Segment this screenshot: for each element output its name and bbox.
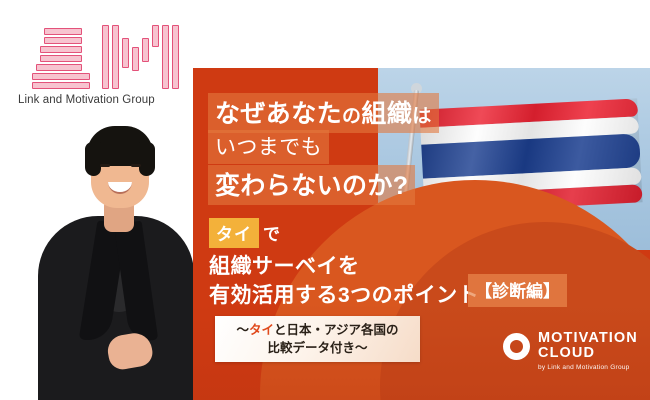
country-tag: タイ	[209, 218, 259, 248]
headline-l1-part-c: 組織	[361, 100, 412, 128]
headline-line-3: 変わらないのか?	[208, 165, 415, 205]
headline-l3-text: 変わらないのか?	[208, 165, 415, 205]
panel-content: なぜあなたの組織は いつまでも 変わらないのか? タイで 組織サーベイを 有効活…	[193, 68, 650, 400]
comparison-data-note: ～タイと日本・アジア各国の 比較データ付き～	[215, 316, 420, 362]
lm-group-logo: Link and Motivation Group	[18, 18, 183, 113]
cream-note-line-1: ～タイと日本・アジア各国の	[236, 321, 398, 339]
headline-l1-part-a: なぜあなた	[215, 100, 342, 128]
cream-note-line-2: 比較データ付き～	[267, 339, 367, 357]
motivation-cloud-wordmark: MOTIVATION CLOUD by Link and Motivation …	[538, 331, 638, 371]
subhead-country-line: タイで	[209, 218, 280, 248]
headline-line-1: なぜあなたの組織は	[208, 93, 439, 133]
eye-left	[100, 164, 110, 167]
lm-logo-mark	[18, 18, 183, 90]
subhead-line-3: 有効活用する3つのポイント	[209, 279, 479, 309]
headline-l1-part-d: は	[412, 106, 431, 127]
headline-l1-part-b: の	[342, 106, 361, 127]
edition-badge: 【診断編】	[468, 274, 567, 307]
cream-note-rest: と日本・アジア各国の	[274, 323, 399, 337]
ring-icon	[503, 333, 530, 360]
motivation-cloud-logo: MOTIVATION CLOUD by Link and Motivation …	[503, 331, 638, 371]
eye-right	[131, 164, 141, 167]
subhead-particle: で	[263, 225, 280, 244]
promo-banner: Link and Motivation Group	[0, 0, 650, 400]
presenter-photo	[36, 120, 196, 400]
orange-panel: なぜあなたの組織は いつまでも 変わらないのか? タイで 組織サーベイを 有効活…	[193, 68, 650, 400]
subhead-line-2: 組織サーベイを	[209, 250, 360, 280]
cream-note-prefix: ～	[236, 323, 249, 337]
hair-side-left	[85, 142, 101, 176]
mc-name-line-2: CLOUD	[538, 346, 638, 361]
lm-logo-caption: Link and Motivation Group	[18, 94, 183, 106]
hair-side-right	[139, 142, 155, 176]
mc-by-line: by Link and Motivation Group	[538, 364, 638, 371]
mc-name-line-1: MOTIVATION	[538, 331, 638, 346]
cream-note-accent: タイ	[249, 323, 274, 337]
headline-line-2: いつまでも	[208, 130, 329, 164]
headline-l2-text: いつまでも	[208, 130, 329, 164]
